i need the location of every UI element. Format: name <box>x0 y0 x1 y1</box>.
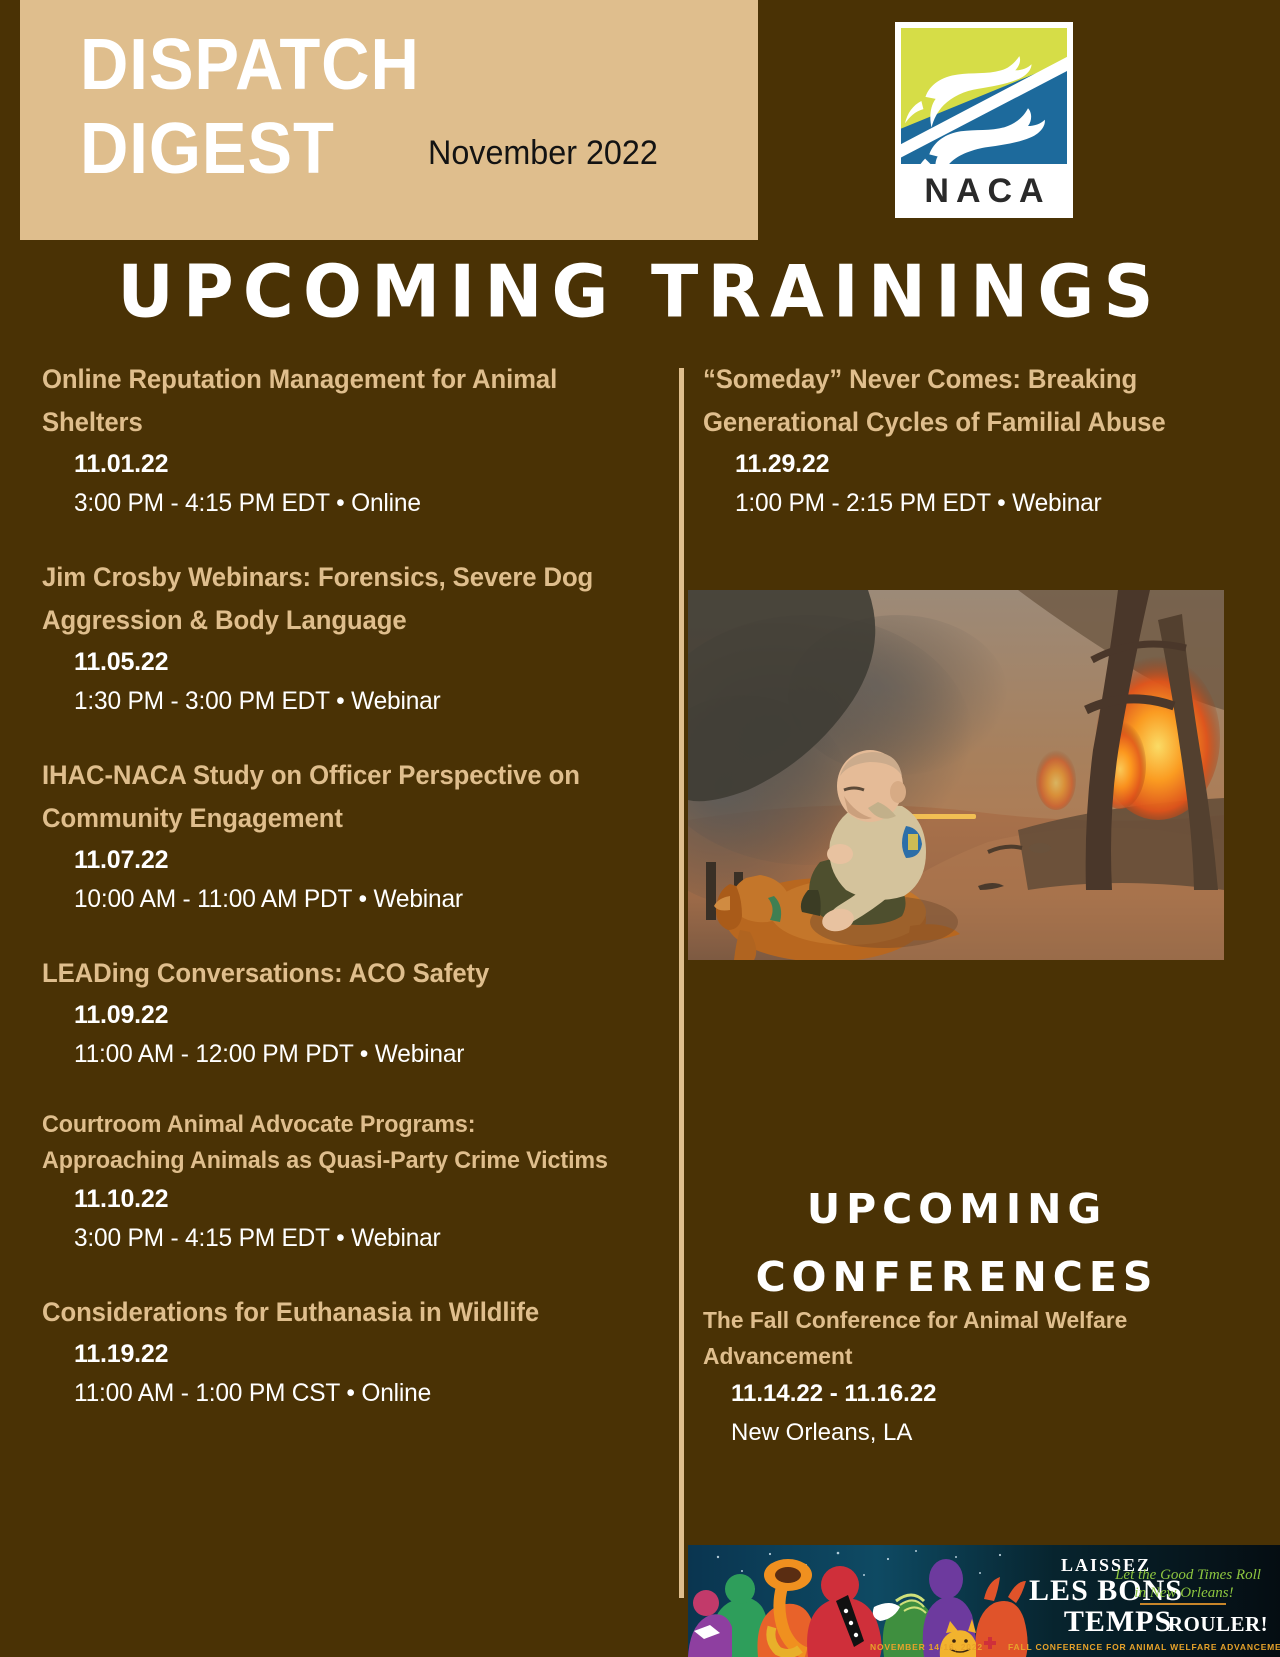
training-item: Online Reputation Management for Animal … <box>42 358 632 523</box>
training-title: LEADing Conversations: ACO Safety <box>42 952 614 995</box>
training-time: 10:00 AM - 11:00 AM PDT • Webinar <box>74 880 621 919</box>
conferences-heading-line1: UPCOMING <box>690 1175 1224 1243</box>
training-item: “Someday” Never Comes: Breaking Generati… <box>703 358 1223 523</box>
banner-footer-left: NOVEMBER 14-16, 2022 <box>870 1642 983 1652</box>
trainings-left-column: Online Reputation Management for Animal … <box>42 358 632 1413</box>
training-title: Jim Crosby Webinars: Forensics, Severe D… <box>42 556 614 642</box>
conference-item: The Fall Conference for Animal Welfare A… <box>703 1302 1223 1452</box>
training-time: 1:00 PM - 2:15 PM EDT • Webinar <box>735 484 1213 523</box>
training-item: Courtroom Animal Advocate Programs: Appr… <box>42 1107 632 1258</box>
training-title: “Someday” Never Comes: Breaking Generati… <box>703 358 1207 444</box>
banner-script-line2: in New Orleans! <box>1134 1585 1233 1601</box>
column-divider <box>679 368 684 1598</box>
training-item: Considerations for Euthanasia in Wildlif… <box>42 1291 632 1413</box>
training-time: 11:00 AM - 1:00 PM CST • Online <box>74 1374 621 1413</box>
logo-wordmark: NACA <box>901 164 1067 218</box>
naca-logo: NACA <box>895 22 1073 218</box>
conference-promo-banner[interactable]: LAISSEZ LES BONS TEMPS ROULER! Let the G… <box>688 1545 1280 1657</box>
training-date: 11.07.22 <box>74 840 632 880</box>
training-title: Considerations for Euthanasia in Wildlif… <box>42 1291 614 1334</box>
training-date: 11.09.22 <box>74 995 632 1035</box>
title-digest: DIGEST <box>80 110 335 188</box>
banner-footer-right: FALL CONFERENCE FOR ANIMAL WELFARE ADVAN… <box>1008 1642 1280 1652</box>
conference-location: New Orleans, LA <box>731 1414 1223 1452</box>
conferences-heading-line2: CONFERENCES <box>690 1243 1224 1311</box>
training-date: 11.01.22 <box>74 444 632 484</box>
banner-line4: ROULER! <box>1168 1612 1268 1636</box>
photo-illustration <box>688 590 1224 960</box>
training-time: 3:00 PM - 4:15 PM EDT • Online <box>74 484 621 523</box>
upcoming-trainings-heading: UPCOMING TRAININGS <box>0 247 1280 338</box>
training-item: IHAC-NACA Study on Officer Perspective o… <box>42 754 632 919</box>
header-banner: DISPATCH DIGEST November 2022 <box>20 0 758 240</box>
title-dispatch: DISPATCH <box>80 26 420 104</box>
training-item: LEADing Conversations: ACO Safety 11.09.… <box>42 952 632 1074</box>
issue-month: November 2022 <box>428 134 658 173</box>
training-date: 11.10.22 <box>74 1179 632 1219</box>
training-title: Online Reputation Management for Animal … <box>42 358 614 444</box>
newsletter-page: DISPATCH DIGEST November 2022 <box>0 0 1280 1657</box>
training-date: 11.19.22 <box>74 1334 632 1374</box>
wildfire-officer-dog-photo <box>688 590 1224 960</box>
banner-script-line1: Let the Good Times Roll <box>1114 1567 1261 1583</box>
training-date: 11.29.22 <box>735 444 1223 484</box>
naca-logo-art <box>901 28 1067 164</box>
training-title: IHAC-NACA Study on Officer Perspective o… <box>42 754 614 840</box>
conference-name: The Fall Conference for Animal Welfare A… <box>703 1302 1207 1374</box>
training-time: 1:30 PM - 3:00 PM EDT • Webinar <box>74 682 621 721</box>
training-item: Jim Crosby Webinars: Forensics, Severe D… <box>42 556 632 721</box>
training-date: 11.05.22 <box>74 642 632 682</box>
training-title: Courtroom Animal Advocate Programs: Appr… <box>42 1107 614 1179</box>
trainings-right-column: “Someday” Never Comes: Breaking Generati… <box>703 358 1223 523</box>
upcoming-conferences-heading: UPCOMING CONFERENCES <box>690 1175 1224 1311</box>
conference-date: 11.14.22 - 11.16.22 <box>731 1374 1223 1414</box>
laissez-les-bons-temps-rouler-artwork: LAISSEZ LES BONS TEMPS ROULER! Let the G… <box>688 1545 1280 1657</box>
training-time: 11:00 AM - 12:00 PM PDT • Webinar <box>74 1035 621 1074</box>
training-time: 3:00 PM - 4:15 PM EDT • Webinar <box>74 1219 621 1258</box>
banner-line3: TEMPS <box>1064 1605 1172 1638</box>
